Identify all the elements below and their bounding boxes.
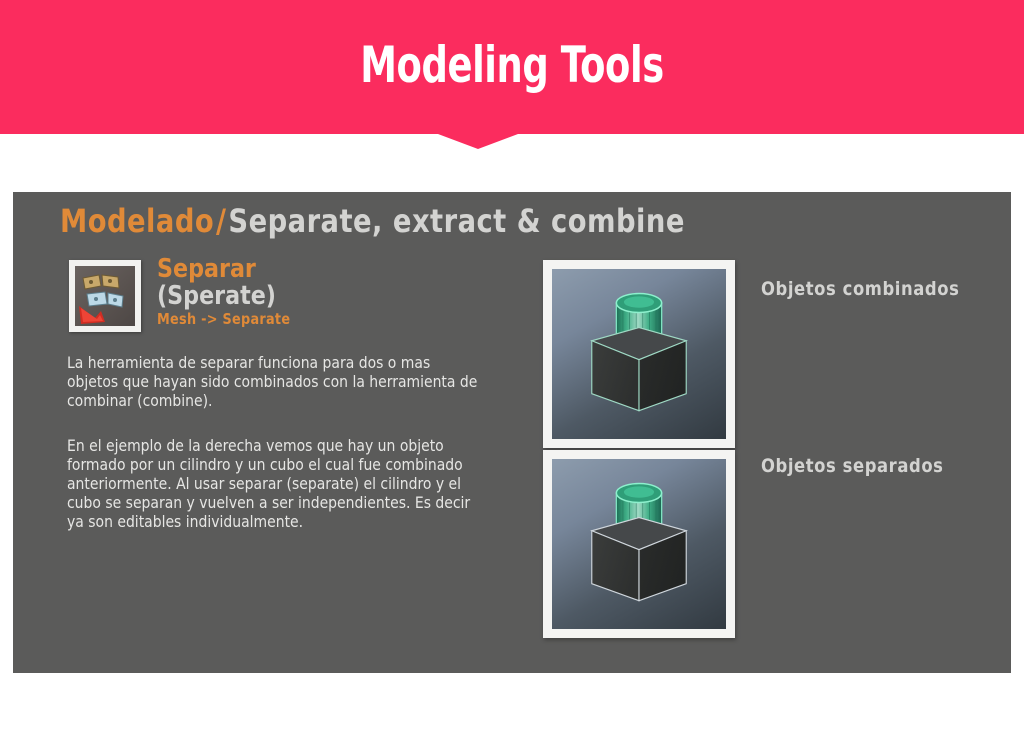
slide-title-main: Separate, extract & combine [228, 202, 684, 240]
viewport-combined-cube-cylinder [552, 269, 726, 439]
slide-page: Modeling Tools Modelado/Separate, extrac… [0, 0, 1024, 748]
left-column: Separar (Sperate) Mesh -> Separate La he… [55, 260, 515, 342]
tool-header: Separar (Sperate) Mesh -> Separate [55, 260, 515, 342]
tool-name-block: Separar (Sperate) Mesh -> Separate [157, 256, 297, 329]
slide-title-separator: / [214, 202, 228, 240]
viewport-label-separated: Objetos separados [761, 455, 944, 477]
tool-name-es: Separar [157, 256, 290, 283]
page-title: Modeling Tools [92, 36, 932, 94]
viewport-stack [543, 260, 735, 638]
tool-menu-path: Mesh -> Separate [157, 310, 290, 329]
viewport-label-group: Objetos combinados Objetos separados [761, 260, 1001, 650]
viewport-separated-frame [543, 450, 735, 638]
slide-title-section: Modelado [60, 202, 214, 240]
separate-tool-icon-art [75, 266, 135, 326]
separate-tool-icon[interactable] [69, 260, 141, 332]
banner-notch-icon [438, 134, 518, 149]
header-banner: Modeling Tools [0, 0, 1024, 134]
tool-name-en: (Sperate) [157, 283, 290, 310]
viewport-separated-cube-cylinder [552, 459, 726, 629]
slide-title: Modelado/Separate, extract & combine [60, 202, 685, 240]
description-paragraph-1: La herramienta de separar funciona para … [67, 353, 484, 410]
viewport-label-combined: Objetos combinados [761, 278, 959, 300]
content-panel: Modelado/Separate, extract & combine [13, 192, 1011, 673]
viewport-combined-frame [543, 260, 735, 448]
description-paragraph-2: En el ejemplo de la derecha vemos que ha… [67, 436, 484, 531]
